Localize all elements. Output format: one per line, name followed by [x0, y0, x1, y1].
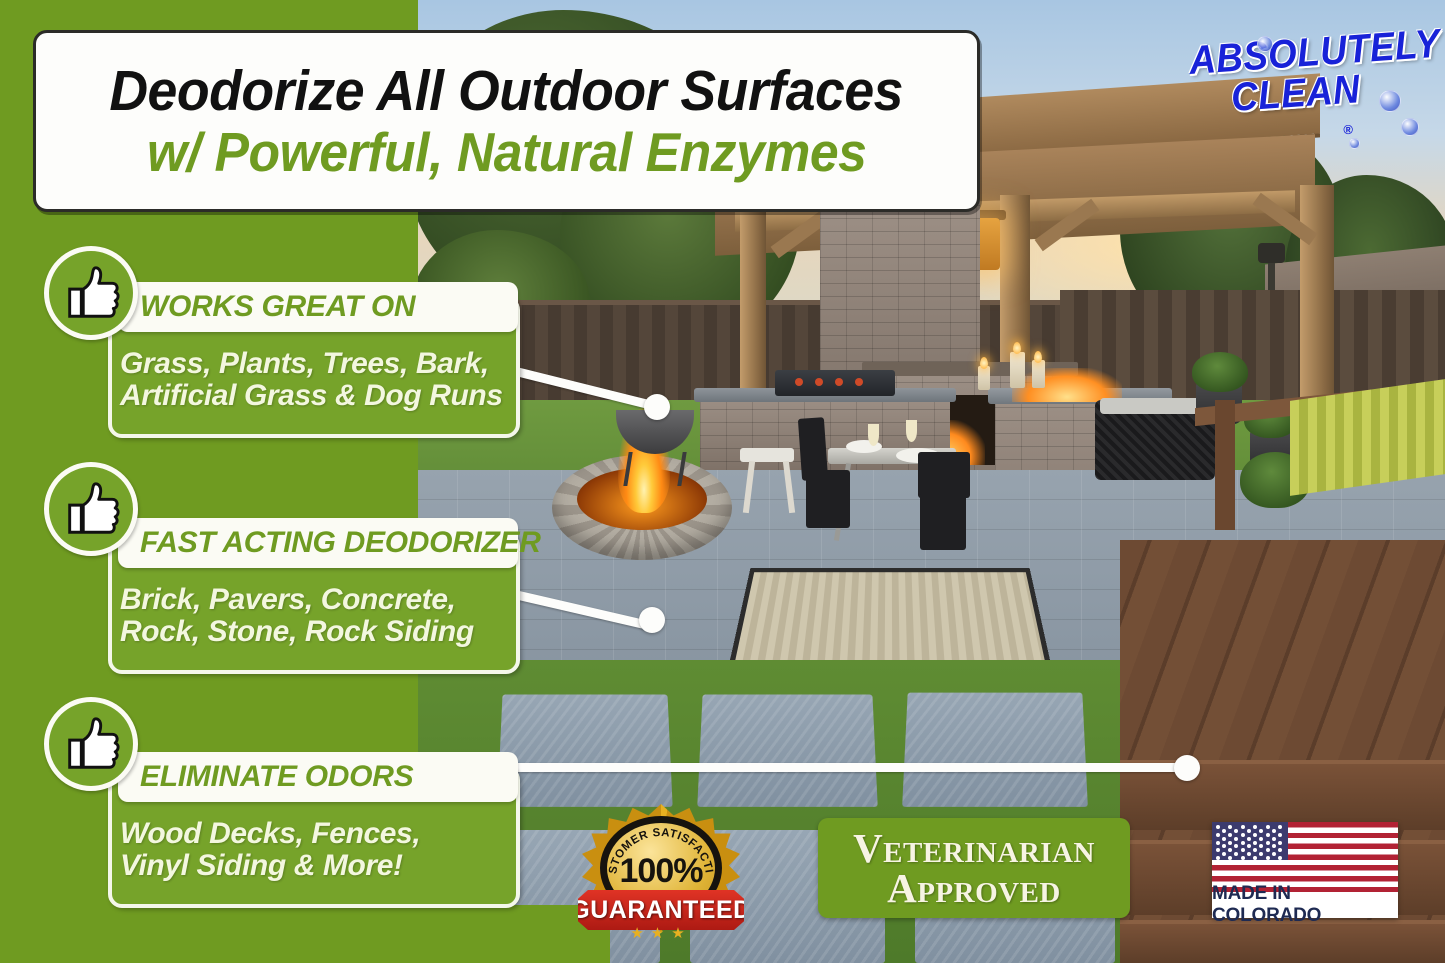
flag-star: [1228, 833, 1232, 837]
flag-star: [1222, 829, 1226, 833]
flag-star: [1234, 852, 1238, 856]
feature-title-strip-3: ELIMINATE ODORS: [118, 752, 518, 802]
veterinarian-approved-badge: Veterinarian Approved: [818, 818, 1130, 918]
thumbs-up-icon: [44, 246, 138, 340]
feature-description-2: Brick, Pavers, Concrete, Rock, Stone, Ro…: [120, 584, 516, 649]
flag-star: [1278, 841, 1282, 845]
feature-desc-line: Vinyl Siding & More!: [120, 850, 516, 882]
made-in-caption-bar: MADE IN COLORADO: [1212, 892, 1398, 918]
feature-desc-line: Artificial Grass & Dog Runs: [120, 380, 516, 412]
flag-star: [1216, 848, 1220, 852]
feature-description-3: Wood Decks, Fences, Vinyl Siding & More!: [120, 818, 516, 883]
flag-star: [1241, 848, 1245, 852]
headline-panel: Deodorize All Outdoor Surfaces w/ Powerf…: [33, 30, 980, 212]
flag-star: [1228, 848, 1232, 852]
flag-star: [1247, 844, 1251, 848]
flag-star: [1266, 841, 1270, 845]
bubble-icon: [1349, 138, 1360, 149]
seal-stars: ★★★: [578, 924, 744, 942]
callout-leader-line-3: [495, 763, 1195, 772]
flag-star: [1216, 833, 1220, 837]
made-in-label: MADE IN COLORADO: [1212, 883, 1398, 927]
flag-star: [1266, 833, 1270, 837]
flag-star: [1278, 833, 1282, 837]
flag-star: [1216, 856, 1220, 860]
satisfaction-guarantee-seal: CUSTOMER SATISFACTION 100% GUARANTEED ★★…: [578, 800, 744, 940]
bubble-icon: [1257, 36, 1273, 52]
callout-dot-2: [639, 607, 665, 633]
flag-star: [1216, 825, 1220, 829]
flag-star: [1241, 856, 1245, 860]
product-infographic: Deodorize All Outdoor Surfaces w/ Powerf…: [0, 0, 1445, 963]
flag-star: [1241, 833, 1245, 837]
us-flag-icon: [1212, 822, 1398, 892]
flag-star: [1222, 852, 1226, 856]
headline-line-1: Deodorize All Outdoor Surfaces: [110, 62, 904, 120]
flag-star: [1228, 841, 1232, 845]
bubble-icon: [1401, 118, 1419, 136]
feature-title-1: WORKS GREAT ON: [118, 290, 415, 324]
flag-star: [1278, 856, 1282, 860]
feature-title-strip-2: FAST ACTING DEODORIZER: [118, 518, 518, 568]
headline-line-2: w/ Powerful, Natural Enzymes: [147, 124, 866, 180]
flag-star: [1234, 837, 1238, 841]
brand-logo: ABSOLUTELY CLEAN ®: [1179, 34, 1429, 154]
callout-dot-3: [1174, 755, 1200, 781]
bottom-green-strip: [0, 905, 610, 963]
flag-canton: [1212, 822, 1288, 860]
flag-star: [1259, 829, 1263, 833]
seal-percent: 100%: [600, 852, 722, 891]
flag-star: [1259, 837, 1263, 841]
flag-star: [1266, 848, 1270, 852]
feature-desc-line: Wood Decks, Fences,: [120, 818, 516, 850]
flag-star: [1222, 837, 1226, 841]
flag-star: [1266, 856, 1270, 860]
flag-star: [1253, 848, 1257, 852]
flag-star: [1247, 852, 1251, 856]
flag-star: [1272, 837, 1276, 841]
flag-star: [1253, 833, 1257, 837]
feature-title-strip-1: WORKS GREAT ON: [118, 282, 518, 332]
flag-star: [1216, 841, 1220, 845]
flag-star: [1272, 829, 1276, 833]
flag-star: [1241, 841, 1245, 845]
feature-desc-line: Rock, Stone, Rock Siding: [120, 616, 516, 648]
made-in-colorado-badge: MADE IN COLORADO: [1212, 822, 1398, 918]
feature-desc-line: Grass, Plants, Trees, Bark,: [120, 348, 516, 380]
flag-star: [1253, 841, 1257, 845]
flag-star: [1253, 825, 1257, 829]
vet-line-1: Veterinarian: [853, 828, 1095, 868]
bubble-icon: [1379, 90, 1401, 112]
flag-star: [1259, 852, 1263, 856]
flag-star: [1278, 825, 1282, 829]
flag-star: [1247, 829, 1251, 833]
guaranteed-label: GUARANTEED: [570, 896, 751, 925]
flag-star: [1228, 856, 1232, 860]
feature-title-2: FAST ACTING DEODORIZER: [118, 526, 541, 560]
vet-line-2: Approved: [887, 868, 1061, 908]
flag-star: [1241, 825, 1245, 829]
thumbs-up-icon: [44, 697, 138, 791]
feature-description-1: Grass, Plants, Trees, Bark, Artificial G…: [120, 348, 516, 413]
flag-star: [1259, 844, 1263, 848]
flag-star: [1234, 829, 1238, 833]
flag-star: [1272, 844, 1276, 848]
flag-star: [1234, 844, 1238, 848]
flag-star: [1222, 844, 1226, 848]
flag-star: [1278, 848, 1282, 852]
flag-star: [1266, 825, 1270, 829]
feature-title-3: ELIMINATE ODORS: [118, 760, 413, 794]
callout-dot-1: [644, 394, 670, 420]
flag-star: [1253, 856, 1257, 860]
feature-desc-line: Brick, Pavers, Concrete,: [120, 584, 516, 616]
thumbs-up-icon: [44, 462, 138, 556]
flag-star: [1272, 852, 1276, 856]
flag-star: [1247, 837, 1251, 841]
registered-mark: ®: [1343, 122, 1353, 137]
flag-star: [1228, 825, 1232, 829]
